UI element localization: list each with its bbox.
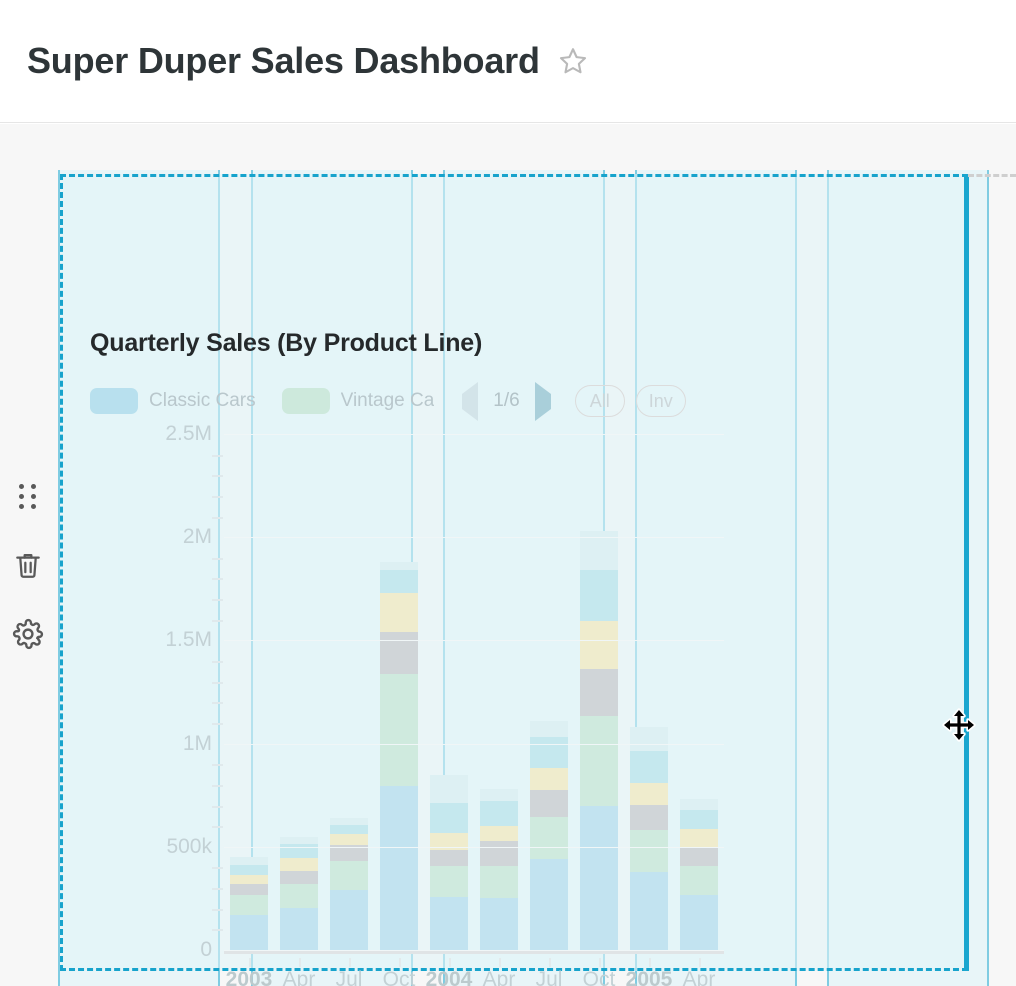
x-axis-tick-label: Oct [574, 968, 624, 986]
y-axis-minor-tick [212, 496, 223, 498]
y-axis-minor-tick [212, 929, 223, 931]
x-axis-tick [374, 958, 424, 968]
star-icon[interactable] [558, 46, 588, 76]
legend-item-classic-cars[interactable]: Classic Cars [90, 388, 256, 414]
bar-segment[interactable] [580, 669, 618, 716]
x-axis-tick-label: Oct [374, 968, 424, 986]
bar-slot [324, 434, 374, 950]
triangle-left-icon[interactable] [460, 389, 480, 413]
plot-area [224, 434, 724, 954]
triangle-right-icon[interactable] [533, 389, 553, 413]
bar-slot [274, 434, 324, 950]
stacked-bar[interactable] [630, 727, 668, 950]
y-axis-minor-tick [212, 599, 223, 601]
y-axis-minor-tick [212, 455, 223, 457]
x-axis-tick [524, 958, 574, 968]
y-axis-minor-tick [212, 661, 223, 663]
y-axis-tick-label: 0 [200, 938, 212, 962]
chart-widget[interactable]: Quarterly Sales (By Product Line) Classi… [90, 329, 750, 986]
drag-handle-icon[interactable] [11, 479, 45, 513]
gridline [224, 847, 724, 848]
chart-title: Quarterly Sales (By Product Line) [90, 329, 750, 358]
bar-series-container [224, 434, 724, 950]
legend-invert-button[interactable]: Inv [636, 385, 686, 417]
stacked-bar[interactable] [580, 531, 618, 950]
y-axis-tick-label: 1M [183, 732, 212, 756]
bar-segment[interactable] [380, 570, 418, 593]
stacked-bar[interactable] [280, 837, 318, 950]
bar-segment[interactable] [330, 825, 368, 834]
chart-plot: 0500k1M1.5M2M2.5M 2003AprJulOct2004AprJu… [90, 434, 750, 986]
bar-segment[interactable] [630, 751, 668, 784]
bar-segment[interactable] [280, 858, 318, 872]
bar-segment[interactable] [680, 895, 718, 950]
bar-segment[interactable] [480, 898, 518, 950]
y-axis-minor-tick [212, 888, 223, 890]
bar-segment[interactable] [380, 674, 418, 785]
bar-segment[interactable] [430, 866, 468, 897]
trash-icon[interactable] [11, 548, 45, 582]
bar-segment[interactable] [480, 789, 518, 801]
bar-segment[interactable] [530, 817, 568, 859]
x-axis-tick [574, 958, 624, 968]
bar-segment[interactable] [280, 871, 318, 884]
gridline [224, 537, 724, 538]
stacked-bar[interactable] [330, 818, 368, 950]
y-axis-minor-tick [212, 826, 223, 828]
legend-swatch-icon [282, 388, 330, 414]
x-axis-tick [474, 958, 524, 968]
bar-segment[interactable] [330, 834, 368, 845]
x-axis: 2003AprJulOct2004AprJulOct2005Apr [224, 958, 724, 986]
stacked-bar[interactable] [680, 799, 718, 950]
y-axis-tick-label: 500k [166, 835, 212, 859]
stacked-bar[interactable] [430, 775, 468, 950]
bar-segment[interactable] [680, 866, 718, 895]
bar-segment[interactable] [530, 790, 568, 817]
dashboard-canvas: Quarterly Sales (By Product Line) Classi… [0, 124, 1016, 986]
x-axis-tick-label: 2003 [224, 968, 274, 986]
x-axis-tick-label: Jul [524, 968, 574, 986]
widget-drop-target-outline [968, 174, 1016, 177]
bar-slot [524, 434, 574, 950]
x-axis-tick-label: 2004 [424, 968, 474, 986]
y-axis-minor-tick [212, 578, 223, 580]
stacked-bar[interactable] [530, 721, 568, 950]
legend-item-label: Classic Cars [149, 390, 256, 412]
bar-segment[interactable] [280, 837, 318, 845]
y-axis-tick-label: 2.5M [165, 422, 212, 446]
widget-toolbar [8, 479, 48, 651]
bar-segment[interactable] [680, 810, 718, 829]
bar-segment[interactable] [380, 562, 418, 570]
bar-slot [674, 434, 724, 950]
bar-slot [574, 434, 624, 950]
bar-segment[interactable] [280, 884, 318, 908]
x-axis-tick-label: 2005 [624, 968, 674, 986]
bar-segment[interactable] [380, 632, 418, 674]
gridline [224, 744, 724, 745]
bar-segment[interactable] [530, 721, 568, 737]
x-axis-tick [324, 958, 374, 968]
x-axis-ticks [224, 958, 724, 968]
x-axis-tick-label: Jul [324, 968, 374, 986]
bar-segment[interactable] [330, 818, 368, 825]
legend-page-count: 1/6 [493, 390, 519, 412]
stacked-bar[interactable] [230, 857, 268, 950]
gridline [224, 434, 724, 435]
bar-segment[interactable] [530, 737, 568, 768]
bar-segment[interactable] [380, 593, 418, 632]
bar-segment[interactable] [580, 621, 618, 668]
bar-segment[interactable] [430, 897, 468, 950]
y-axis-minor-tick [212, 475, 223, 477]
x-axis-tick [224, 958, 274, 968]
y-axis-tick-label: 1.5M [165, 628, 212, 652]
x-axis-tick-label: Apr [674, 968, 724, 986]
x-axis-tick [424, 958, 474, 968]
y-axis-minor-tick [212, 517, 223, 519]
bar-segment[interactable] [380, 786, 418, 950]
legend-pager: 1/6 [460, 389, 552, 413]
y-axis-minor-tick [212, 620, 223, 622]
gear-icon[interactable] [11, 617, 45, 651]
legend-swatch-icon [90, 388, 138, 414]
y-axis-minor-tick [212, 558, 223, 560]
bar-segment[interactable] [330, 890, 368, 950]
bar-segment[interactable] [280, 908, 318, 950]
dashboard-header: Super Duper Sales Dashboard [0, 0, 1016, 123]
gridline [224, 640, 724, 641]
bar-slot [624, 434, 674, 950]
bar-segment[interactable] [580, 716, 618, 806]
chart-legend: Classic Cars Vintage Ca 1/6 All Inv [90, 384, 750, 418]
bar-segment[interactable] [430, 775, 468, 804]
legend-item-label: Vintage Ca [341, 390, 435, 412]
bar-segment[interactable] [230, 884, 268, 895]
bar-segment[interactable] [630, 830, 668, 871]
bar-segment[interactable] [230, 875, 268, 884]
bar-segment[interactable] [530, 859, 568, 950]
y-axis-minor-tick [212, 723, 223, 725]
widget-resize-handle-right[interactable] [964, 174, 969, 971]
bar-segment[interactable] [630, 872, 668, 950]
dashboard-root: Super Duper Sales Dashboard Quarterly Sa… [0, 0, 1016, 986]
bar-segment[interactable] [230, 895, 268, 916]
x-axis-labels: 2003AprJulOct2004AprJulOct2005Apr [224, 968, 724, 986]
bar-segment[interactable] [480, 841, 518, 866]
bar-segment[interactable] [330, 861, 368, 890]
bar-slot [424, 434, 474, 950]
bar-segment[interactable] [480, 866, 518, 898]
bar-segment[interactable] [230, 857, 268, 865]
y-axis-minor-tick [212, 909, 223, 911]
bar-segment[interactable] [580, 570, 618, 622]
y-axis-minor-tick [212, 806, 223, 808]
stacked-bar[interactable] [380, 562, 418, 950]
bar-segment[interactable] [530, 768, 568, 790]
bar-segment[interactable] [430, 850, 468, 867]
legend-all-button[interactable]: All [575, 385, 625, 417]
bar-segment[interactable] [630, 783, 668, 805]
x-axis-tick [674, 958, 724, 968]
bar-slot [224, 434, 274, 950]
y-axis-minor-tick [212, 785, 223, 787]
bar-segment[interactable] [630, 805, 668, 830]
bar-segment[interactable] [230, 865, 268, 875]
stacked-bar[interactable] [480, 789, 518, 950]
x-axis-tick-label: Apr [274, 968, 324, 986]
y-axis-minor-tick [212, 764, 223, 766]
bar-segment[interactable] [480, 826, 518, 841]
move-cursor-icon [942, 708, 976, 742]
bar-slot [374, 434, 424, 950]
x-axis-tick [624, 958, 674, 968]
gridline [224, 950, 724, 951]
page-title: Super Duper Sales Dashboard [27, 40, 540, 82]
y-axis: 0500k1M1.5M2M2.5M [90, 434, 218, 954]
legend-item-vintage-cars[interactable]: Vintage Ca [282, 388, 435, 414]
bar-slot [474, 434, 524, 950]
bar-segment[interactable] [680, 829, 718, 847]
bar-segment[interactable] [630, 727, 668, 751]
y-axis-minor-tick [212, 682, 223, 684]
x-axis-tick [274, 958, 324, 968]
y-axis-tick-label: 2M [183, 525, 212, 549]
y-axis-minor-tick [212, 702, 223, 704]
bar-segment[interactable] [430, 803, 468, 833]
bar-segment[interactable] [680, 799, 718, 809]
bar-segment[interactable] [230, 915, 268, 950]
x-axis-tick-label: Apr [474, 968, 524, 986]
bar-segment[interactable] [580, 806, 618, 950]
bar-segment[interactable] [480, 801, 518, 825]
y-axis-minor-tick [212, 867, 223, 869]
bar-segment[interactable] [680, 847, 718, 866]
